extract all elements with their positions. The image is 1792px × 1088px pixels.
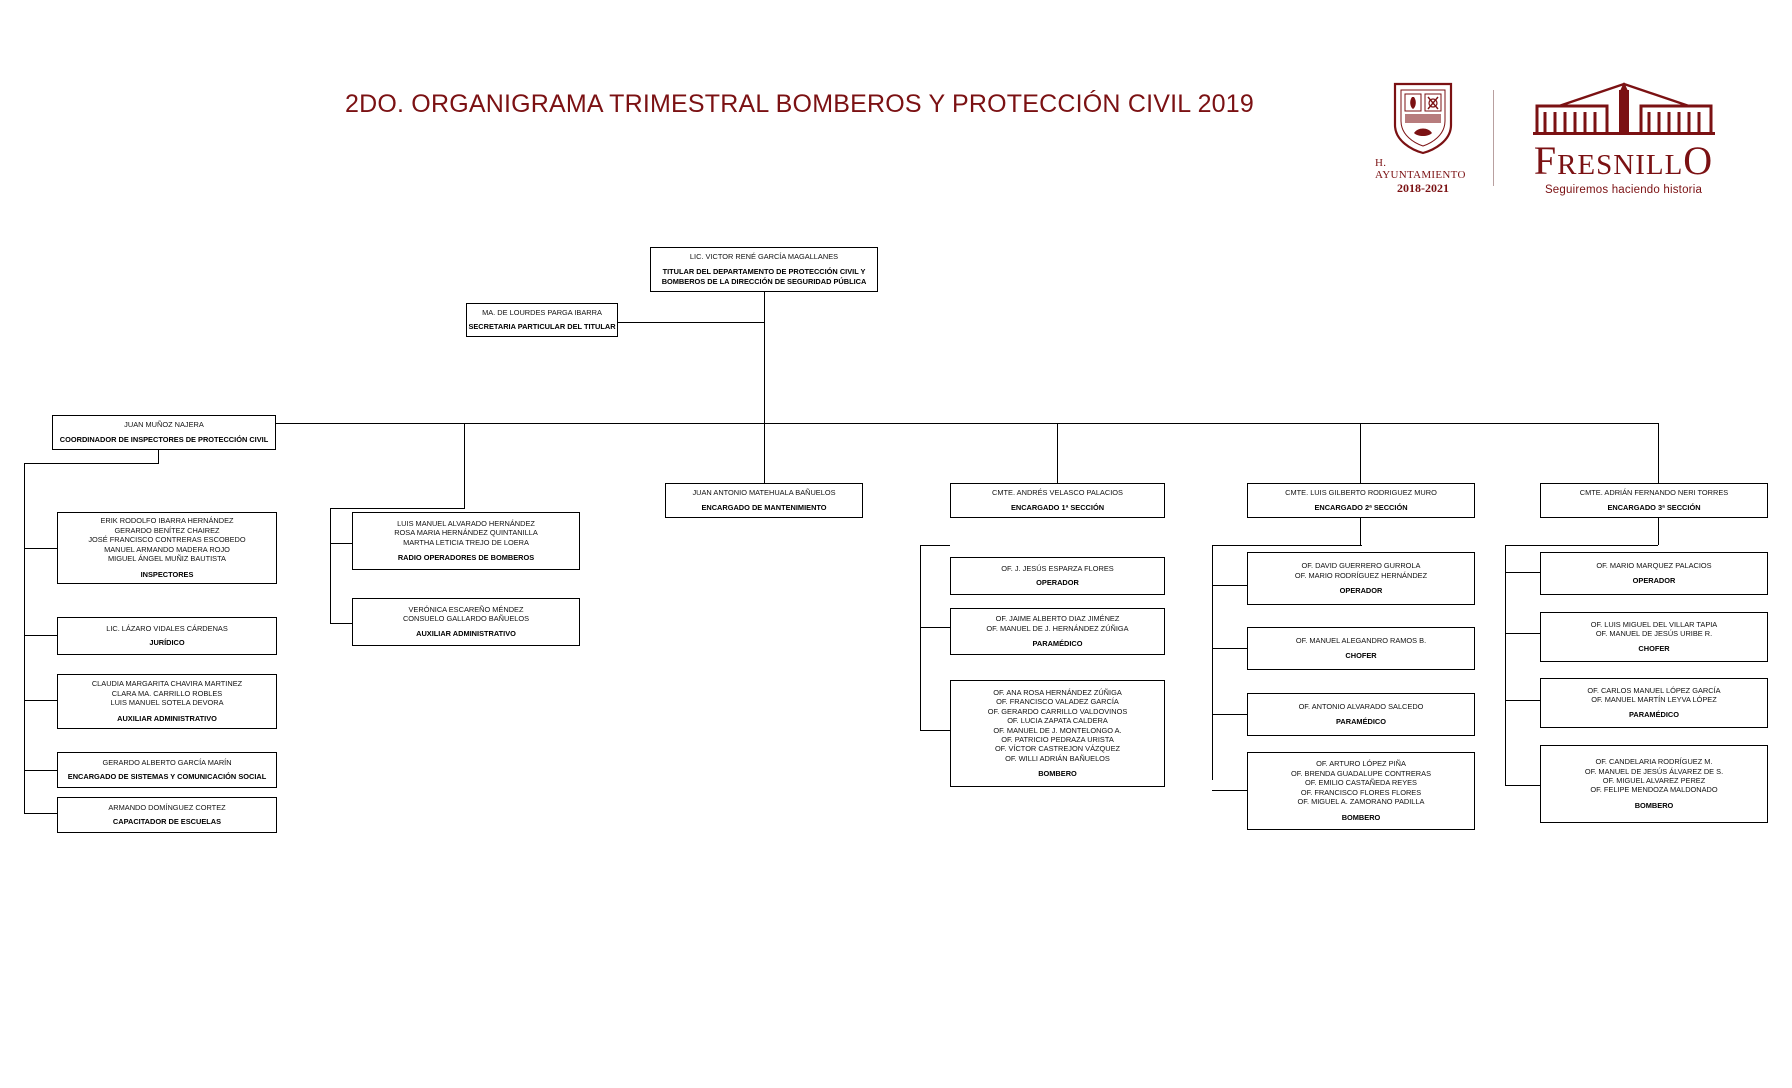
node-names: OF. ANA ROSA HERNÁNDEZ ZÚÑIGA OF. FRANCI… — [988, 688, 1128, 763]
node-role: JURÍDICO — [149, 638, 184, 648]
node-juridico[interactable]: LIC. LÁZARO VIDALES CÁRDENAS JURÍDICO — [57, 617, 277, 655]
fresnillo-arch-icon — [1529, 80, 1719, 141]
seal-line-2: 2018-2021 — [1397, 181, 1449, 196]
connector — [764, 423, 765, 485]
node-role: CAPACITADOR DE ESCUELAS — [113, 817, 221, 827]
connector — [1212, 545, 1213, 780]
connector — [1505, 545, 1658, 546]
node-names: OF. MANUEL ALEGANDRO RAMOS B. — [1296, 636, 1426, 645]
node-names: OF. MARIO MARQUEZ PALACIOS — [1596, 561, 1711, 570]
node-names: ARMANDO DOMÍNGUEZ CORTEZ — [108, 803, 225, 812]
node-s3-chofer[interactable]: OF. LUIS MIGUEL DEL VILLAR TAPIA OF. MAN… — [1540, 612, 1768, 662]
connector — [464, 423, 465, 508]
node-auxiliar-administrativo-bomberos[interactable]: VERÓNICA ESCAREÑO MÉNDEZ CONSUELO GALLAR… — [352, 598, 580, 646]
node-names: GERARDO ALBERTO GARCÍA MARÍN — [102, 758, 231, 767]
node-radio-operadores[interactable]: LUIS MANUEL ALVARADO HERNÁNDEZ ROSA MARI… — [352, 512, 580, 570]
node-names: CMTE. LUIS GILBERTO RODRIGUEZ MURO — [1285, 488, 1437, 497]
node-s1-bombero[interactable]: OF. ANA ROSA HERNÁNDEZ ZÚÑIGA OF. FRANCI… — [950, 680, 1165, 787]
node-names: LIC. VICTOR RENÉ GARCÍA MAGALLANES — [690, 252, 838, 261]
node-role: BOMBERO — [1038, 769, 1077, 779]
node-titular[interactable]: LIC. VICTOR RENÉ GARCÍA MAGALLANES TITUL… — [650, 247, 878, 292]
node-s2-bombero[interactable]: OF. ARTURO LÓPEZ PIÑA OF. BRENDA GUADALU… — [1247, 752, 1475, 830]
connector — [1212, 545, 1362, 546]
node-role: CHOFER — [1638, 644, 1669, 654]
connector — [24, 770, 57, 771]
node-names: OF. LUIS MIGUEL DEL VILLAR TAPIA OF. MAN… — [1591, 620, 1718, 639]
node-inspectores[interactable]: ERIK RODOLFO IBARRA HERNÁNDEZ GERARDO BE… — [57, 512, 277, 584]
node-coordinador-inspectores[interactable]: JUAN MUÑOZ NAJERA COORDINADOR DE INSPECT… — [52, 415, 276, 450]
node-names: CMTE. ADRIÁN FERNANDO NERI TORRES — [1580, 488, 1728, 497]
connector — [1212, 790, 1247, 791]
node-role: ENCARGADO 2ª SECCIÓN — [1314, 503, 1407, 513]
node-names: ERIK RODOLFO IBARRA HERNÁNDEZ GERARDO BE… — [88, 516, 245, 563]
node-role: BOMBERO — [1342, 813, 1381, 823]
fresnillo-wordmark: FRESNILLO — [1534, 141, 1713, 185]
connector — [1505, 700, 1540, 701]
organigrama-page: 2DO. ORGANIGRAMA TRIMESTRAL BOMBEROS Y P… — [0, 0, 1792, 1088]
node-role: PARAMÉDICO — [1033, 639, 1083, 649]
node-role: AUXILIAR ADMINISTRATIVO — [416, 629, 516, 639]
connector — [24, 635, 57, 636]
connector — [330, 543, 352, 544]
node-encargado-seccion-2[interactable]: CMTE. LUIS GILBERTO RODRIGUEZ MURO ENCAR… — [1247, 483, 1475, 518]
connector — [158, 423, 1658, 424]
node-capacitador-escuelas[interactable]: ARMANDO DOMÍNGUEZ CORTEZ CAPACITADOR DE … — [57, 797, 277, 833]
coat-of-arms-icon — [1392, 81, 1454, 155]
node-role: ENCARGADO DE MANTENIMIENTO — [701, 503, 826, 513]
node-s1-operador[interactable]: OF. J. JESÚS ESPARZA FLORES OPERADOR — [950, 557, 1165, 595]
connector — [330, 508, 465, 509]
node-names: OF. CANDELARIA RODRÍGUEZ M. OF. MANUEL D… — [1585, 757, 1723, 795]
municipal-seal: H. AYUNTAMIENTO 2018-2021 — [1375, 81, 1471, 196]
node-names: OF. J. JESÚS ESPARZA FLORES — [1001, 564, 1113, 573]
connector — [1505, 633, 1540, 634]
node-encargado-seccion-3[interactable]: CMTE. ADRIÁN FERNANDO NERI TORRES ENCARG… — [1540, 483, 1768, 518]
node-names: CLAUDIA MARGARITA CHAVIRA MARTINEZ CLARA… — [92, 679, 242, 707]
node-names: LIC. LÁZARO VIDALES CÁRDENAS — [106, 624, 228, 633]
node-role: OPERADOR — [1036, 578, 1079, 588]
node-names: OF. ARTURO LÓPEZ PIÑA OF. BRENDA GUADALU… — [1291, 759, 1431, 806]
node-s2-operador[interactable]: OF. DAVID GUERRERO GURROLA OF. MARIO ROD… — [1247, 552, 1475, 605]
node-s2-chofer[interactable]: OF. MANUEL ALEGANDRO RAMOS B. CHOFER — [1247, 627, 1475, 670]
connector — [24, 813, 57, 814]
node-names: VERÓNICA ESCAREÑO MÉNDEZ CONSUELO GALLAR… — [403, 605, 529, 624]
node-s3-operador[interactable]: OF. MARIO MARQUEZ PALACIOS OPERADOR — [1540, 552, 1768, 595]
node-role: CHOFER — [1345, 651, 1376, 661]
node-role: PARAMÉDICO — [1336, 717, 1386, 727]
connector — [24, 700, 57, 701]
node-names: OF. DAVID GUERRERO GURROLA OF. MARIO ROD… — [1295, 561, 1427, 580]
node-auxiliar-administrativo-inspecciones[interactable]: CLAUDIA MARGARITA CHAVIRA MARTINEZ CLARA… — [57, 674, 277, 729]
node-names: OF. ANTONIO ALVARADO SALCEDO — [1299, 702, 1424, 711]
node-secretaria-particular[interactable]: MA. DE LOURDES PARGA IBARRA SECRETARIA P… — [466, 303, 618, 337]
node-names: JUAN MUÑOZ NAJERA — [124, 420, 204, 429]
node-mantenimiento[interactable]: JUAN ANTONIO MATEHUALA BAÑUELOS ENCARGAD… — [665, 483, 863, 518]
node-role: INSPECTORES — [141, 570, 194, 580]
node-s3-paramedico[interactable]: OF. CARLOS MANUEL LÓPEZ GARCÍA OF. MANUE… — [1540, 678, 1768, 728]
logo-divider — [1493, 90, 1494, 186]
node-role: RADIO OPERADORES DE BOMBEROS — [398, 553, 534, 563]
node-names: MA. DE LOURDES PARGA IBARRA — [482, 308, 602, 317]
node-sistemas-comunicacion[interactable]: GERARDO ALBERTO GARCÍA MARÍN ENCARGADO D… — [57, 752, 277, 788]
connector — [330, 623, 352, 624]
connector — [330, 508, 331, 623]
connector — [24, 463, 159, 464]
connector — [24, 463, 25, 813]
connector — [1057, 423, 1058, 485]
connector — [1212, 648, 1247, 649]
seal-line-1: H. AYUNTAMIENTO — [1375, 157, 1471, 181]
node-names: LUIS MANUEL ALVARADO HERNÁNDEZ ROSA MARI… — [394, 519, 538, 547]
page-title: 2DO. ORGANIGRAMA TRIMESTRAL BOMBEROS Y P… — [345, 90, 1265, 119]
connector — [920, 545, 921, 730]
node-role: ENCARGADO DE SISTEMAS Y COMUNICACIÓN SOC… — [68, 772, 266, 782]
node-role: ENCARGADO 1ª SECCIÓN — [1011, 503, 1104, 513]
node-role: SECRETARIA PARTICULAR DEL TITULAR — [468, 322, 615, 332]
connector — [24, 548, 57, 549]
node-encargado-seccion-1[interactable]: CMTE. ANDRÉS VELASCO PALACIOS ENCARGADO … — [950, 483, 1165, 518]
node-role: AUXILIAR ADMINISTRATIVO — [117, 714, 217, 724]
connector — [1212, 585, 1247, 586]
connector — [1505, 785, 1540, 786]
logo-group: H. AYUNTAMIENTO 2018-2021 — [1375, 80, 1731, 196]
node-role: TITULAR DEL DEPARTAMENTO DE PROTECCIÓN C… — [662, 267, 867, 287]
connector — [1360, 423, 1361, 485]
node-s3-bombero[interactable]: OF. CANDELARIA RODRÍGUEZ M. OF. MANUEL D… — [1540, 745, 1768, 823]
node-role: PARAMÉDICO — [1629, 710, 1679, 720]
connector — [920, 545, 950, 546]
connector — [1505, 545, 1506, 785]
connector — [920, 627, 950, 628]
node-role: OPERADOR — [1633, 576, 1676, 586]
node-names: OF. JAIME ALBERTO DIAZ JIMÉNEZ OF. MANUE… — [986, 614, 1128, 633]
connector — [1212, 714, 1247, 715]
connector — [1505, 572, 1540, 573]
node-names: JUAN ANTONIO MATEHUALA BAÑUELOS — [692, 488, 835, 497]
connector — [920, 730, 950, 731]
node-names: OF. CARLOS MANUEL LÓPEZ GARCÍA OF. MANUE… — [1587, 686, 1720, 705]
connector — [617, 322, 765, 323]
node-role: COORDINADOR DE INSPECTORES DE PROTECCIÓN… — [60, 435, 268, 445]
node-names: CMTE. ANDRÉS VELASCO PALACIOS — [992, 488, 1123, 497]
fresnillo-tagline: Seguiremos haciendo historia — [1545, 184, 1702, 196]
node-role: ENCARGADO 3ª SECCIÓN — [1607, 503, 1700, 513]
connector — [1658, 423, 1659, 485]
node-role: BOMBERO — [1635, 801, 1674, 811]
node-s2-paramedico[interactable]: OF. ANTONIO ALVARADO SALCEDO PARAMÉDICO — [1247, 693, 1475, 736]
node-s1-paramedico[interactable]: OF. JAIME ALBERTO DIAZ JIMÉNEZ OF. MANUE… — [950, 608, 1165, 655]
fresnillo-brand: FRESNILLO Seguiremos haciendo historia — [1516, 80, 1731, 196]
node-role: OPERADOR — [1340, 586, 1383, 596]
